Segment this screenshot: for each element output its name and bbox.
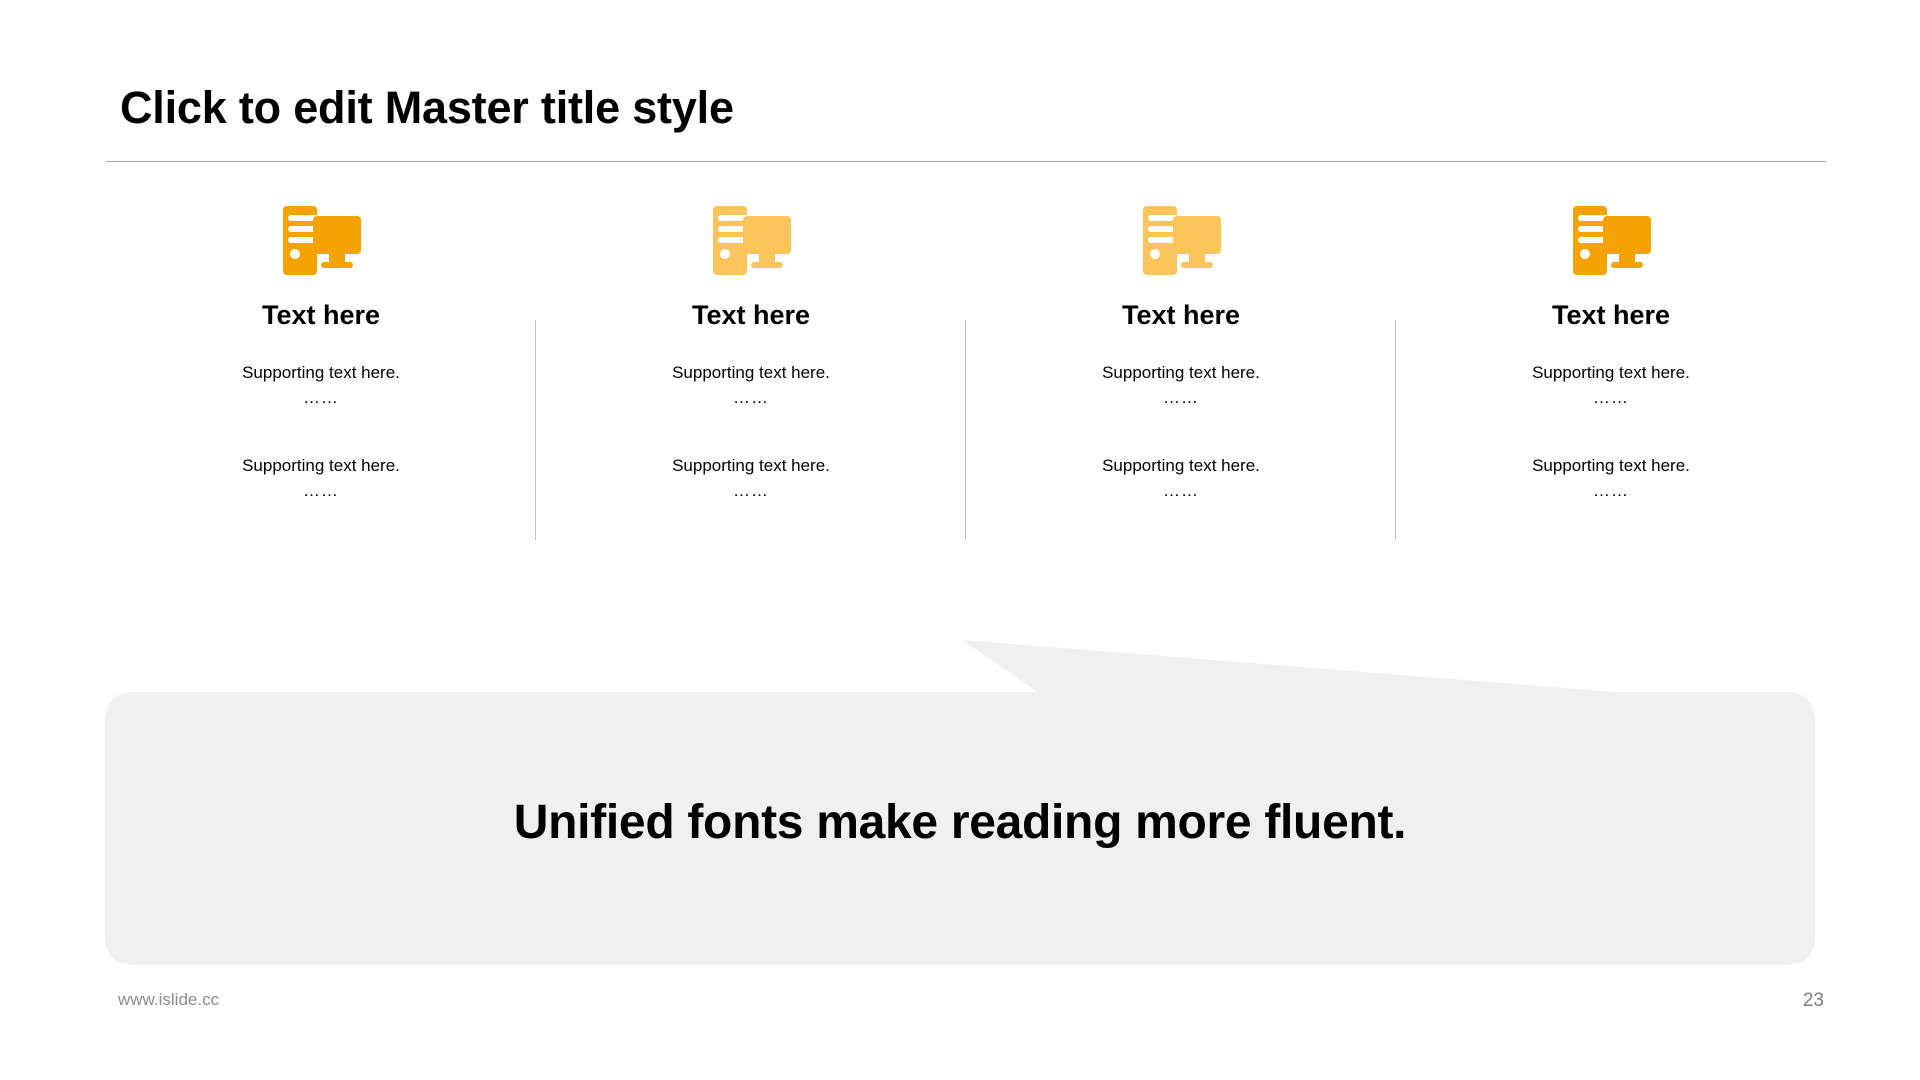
column-body: Supporting text here. …… Supporting text…	[1102, 361, 1260, 504]
desktop-computer-icon	[275, 204, 367, 278]
supporting-line: Supporting text here.	[242, 363, 400, 382]
ellipsis-dots: ……	[1102, 479, 1260, 504]
supporting-paragraph: Supporting text here. ……	[672, 454, 830, 503]
column-heading: Text here	[262, 302, 380, 329]
column-body: Supporting text here. …… Supporting text…	[242, 361, 400, 504]
ellipsis-dots: ……	[672, 386, 830, 411]
feature-column-1[interactable]: Text here Supporting text here. …… Suppo…	[106, 196, 536, 556]
desktop-computer-icon	[1565, 204, 1657, 278]
supporting-line: Supporting text here.	[672, 363, 830, 382]
feature-columns: Text here Supporting text here. …… Suppo…	[106, 196, 1826, 556]
supporting-paragraph: Supporting text here. ……	[242, 454, 400, 503]
page-title[interactable]: Click to edit Master title style	[120, 82, 734, 134]
feature-column-3[interactable]: Text here Supporting text here. …… Suppo…	[966, 196, 1396, 556]
ellipsis-dots: ……	[672, 479, 830, 504]
supporting-line: Supporting text here.	[1102, 363, 1260, 382]
column-heading: Text here	[1552, 302, 1670, 329]
supporting-line: Supporting text here.	[672, 456, 830, 475]
supporting-paragraph: Supporting text here. ……	[1102, 361, 1260, 410]
supporting-paragraph: Supporting text here. ……	[672, 361, 830, 410]
supporting-line: Supporting text here.	[242, 456, 400, 475]
supporting-paragraph: Supporting text here. ……	[242, 361, 400, 410]
supporting-paragraph: Supporting text here. ……	[1532, 361, 1690, 410]
desktop-computer-icon	[1135, 204, 1227, 278]
column-heading: Text here	[1122, 302, 1240, 329]
column-heading: Text here	[692, 302, 810, 329]
feature-column-4[interactable]: Text here Supporting text here. …… Suppo…	[1396, 196, 1826, 556]
page-number: 23	[1803, 990, 1824, 1012]
supporting-paragraph: Supporting text here. ……	[1532, 454, 1690, 503]
title-divider-rule	[106, 161, 1826, 162]
supporting-line: Supporting text here.	[1102, 456, 1260, 475]
feature-column-2[interactable]: Text here Supporting text here. …… Suppo…	[536, 196, 966, 556]
desktop-computer-icon	[705, 204, 797, 278]
supporting-paragraph: Supporting text here. ……	[1102, 454, 1260, 503]
ellipsis-dots: ……	[242, 386, 400, 411]
column-body: Supporting text here. …… Supporting text…	[1532, 361, 1690, 504]
ellipsis-dots: ……	[1102, 386, 1260, 411]
callout-text[interactable]: Unified fonts make reading more fluent.	[0, 795, 1920, 850]
ellipsis-dots: ……	[1532, 479, 1690, 504]
column-body: Supporting text here. …… Supporting text…	[672, 361, 830, 504]
ellipsis-dots: ……	[242, 479, 400, 504]
slide-canvas: Click to edit Master title style Text he…	[0, 0, 1920, 1080]
supporting-line: Supporting text here.	[1532, 456, 1690, 475]
supporting-line: Supporting text here.	[1532, 363, 1690, 382]
ellipsis-dots: ……	[1532, 386, 1690, 411]
footer-url[interactable]: www.islide.cc	[118, 990, 219, 1010]
